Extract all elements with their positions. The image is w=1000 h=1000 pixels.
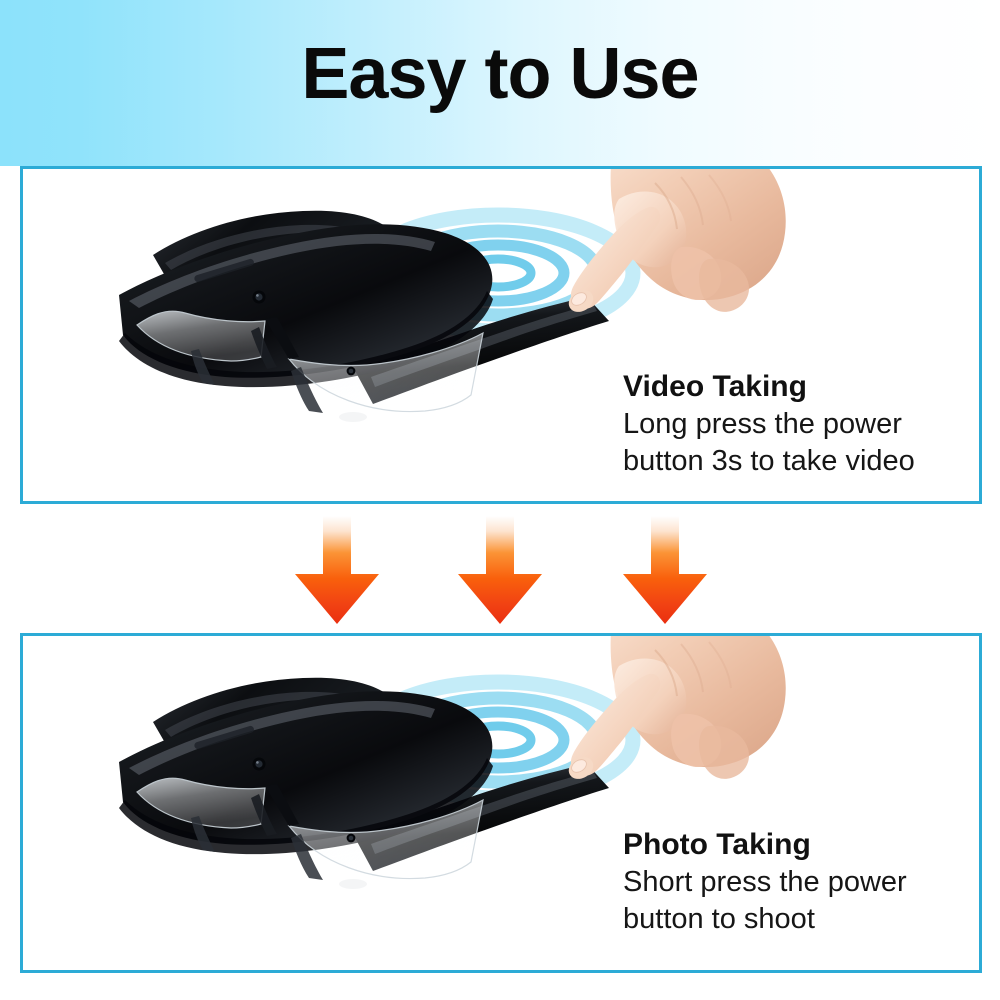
caption-line: Short press the power (623, 864, 978, 901)
panel-video-taking: Video Taking Long press the power button… (20, 166, 982, 504)
down-arrow-icon (452, 516, 548, 624)
caption-title-photo: Photo Taking (623, 826, 978, 864)
page-title: Easy to Use (0, 34, 1000, 114)
caption-body-video: Long press the power button 3s to take v… (623, 406, 978, 480)
caption-line: Long press the power (623, 406, 978, 443)
caption-body-photo: Short press the power button to shoot (623, 864, 978, 938)
caption-line: button 3s to take video (623, 443, 978, 480)
caption-video: Video Taking Long press the power button… (623, 368, 978, 480)
caption-photo: Photo Taking Short press the power butto… (623, 826, 978, 938)
down-arrow-icon (289, 516, 385, 624)
header-banner: Easy to Use (0, 0, 1000, 166)
product-image-glasses-video (53, 171, 673, 501)
flow-arrows (0, 516, 1000, 628)
panel-photo-taking: Photo Taking Short press the power butto… (20, 633, 982, 973)
caption-title-video: Video Taking (623, 368, 978, 406)
down-arrow-icon (617, 516, 713, 624)
caption-line: button to shoot (623, 901, 978, 938)
product-image-glasses-photo (53, 638, 673, 968)
